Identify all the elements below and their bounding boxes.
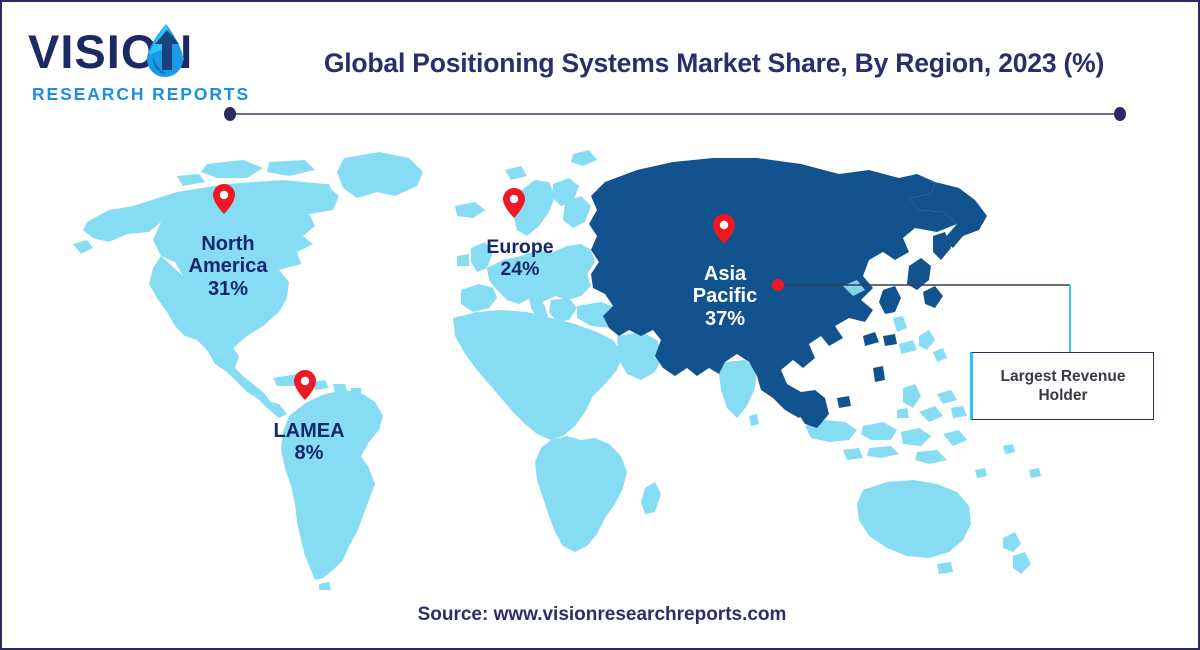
source-attribution: Source: www.visionresearchreports.com bbox=[2, 604, 1200, 626]
infographic-page: VISION RESEARCH REPORTS Global Positioni… bbox=[0, 0, 1200, 650]
largest-revenue-holder-callout: Largest Revenue Holder bbox=[970, 352, 1154, 420]
logo-wordmark: VISION bbox=[28, 24, 240, 80]
water-drop-arrow-icon bbox=[140, 22, 186, 85]
map-pin-north-america bbox=[213, 184, 235, 214]
connector-origin-dot bbox=[772, 279, 784, 291]
map-pin-lamea bbox=[294, 370, 316, 400]
vision-research-reports-logo: VISION RESEARCH REPORTS bbox=[28, 18, 240, 104]
map-pin-europe bbox=[503, 188, 525, 218]
logo-tagline: RESEARCH REPORTS bbox=[32, 84, 250, 105]
callout-connector bbox=[767, 272, 1087, 364]
map-pin-asia-pacific bbox=[713, 214, 735, 244]
callout-label: Largest Revenue Holder bbox=[1001, 367, 1126, 406]
chart-title: Global Positioning Systems Market Share,… bbox=[254, 48, 1174, 79]
title-divider bbox=[222, 106, 1128, 122]
